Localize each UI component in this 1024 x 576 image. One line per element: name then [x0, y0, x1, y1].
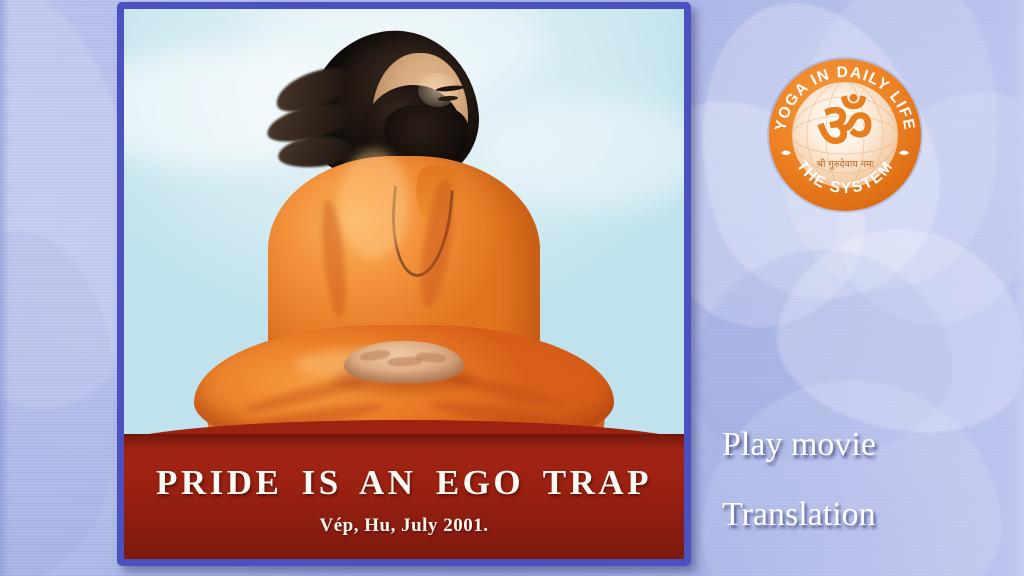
menu-item-translation[interactable]: Translation: [722, 498, 1022, 532]
menu-list: Play movie Translation: [722, 428, 1022, 568]
caption-area: PRIDE IS AN EGO TRAP Vép, Hu, July 2001.: [124, 463, 684, 537]
dvd-menu-screen: PRIDE IS AN EGO TRAP Vép, Hu, July 2001.: [0, 0, 1024, 576]
cover-photo-frame: PRIDE IS AN EGO TRAP Vép, Hu, July 2001.: [117, 2, 691, 566]
cover-title: PRIDE IS AN EGO TRAP: [124, 463, 684, 503]
hands-in-mudra: [344, 341, 464, 383]
cover-photo: PRIDE IS AN EGO TRAP Vép, Hu, July 2001.: [124, 9, 684, 559]
robe-highlight: [339, 149, 409, 259]
cover-subtitle: Vép, Hu, July 2001.: [124, 515, 684, 537]
left-edge-shade: [0, 0, 10, 576]
om-symbol: ॐ: [817, 89, 874, 162]
ground-top-shade: [124, 434, 684, 450]
yoga-in-daily-life-logo: YOGA IN DAILY LIFE THE SYSTEM ॐ श्री गुर…: [765, 55, 925, 215]
menu-item-play-movie[interactable]: Play movie: [722, 428, 1022, 462]
logo-sanskrit-text: श्री गुरुदेवाय नमः: [816, 158, 875, 170]
